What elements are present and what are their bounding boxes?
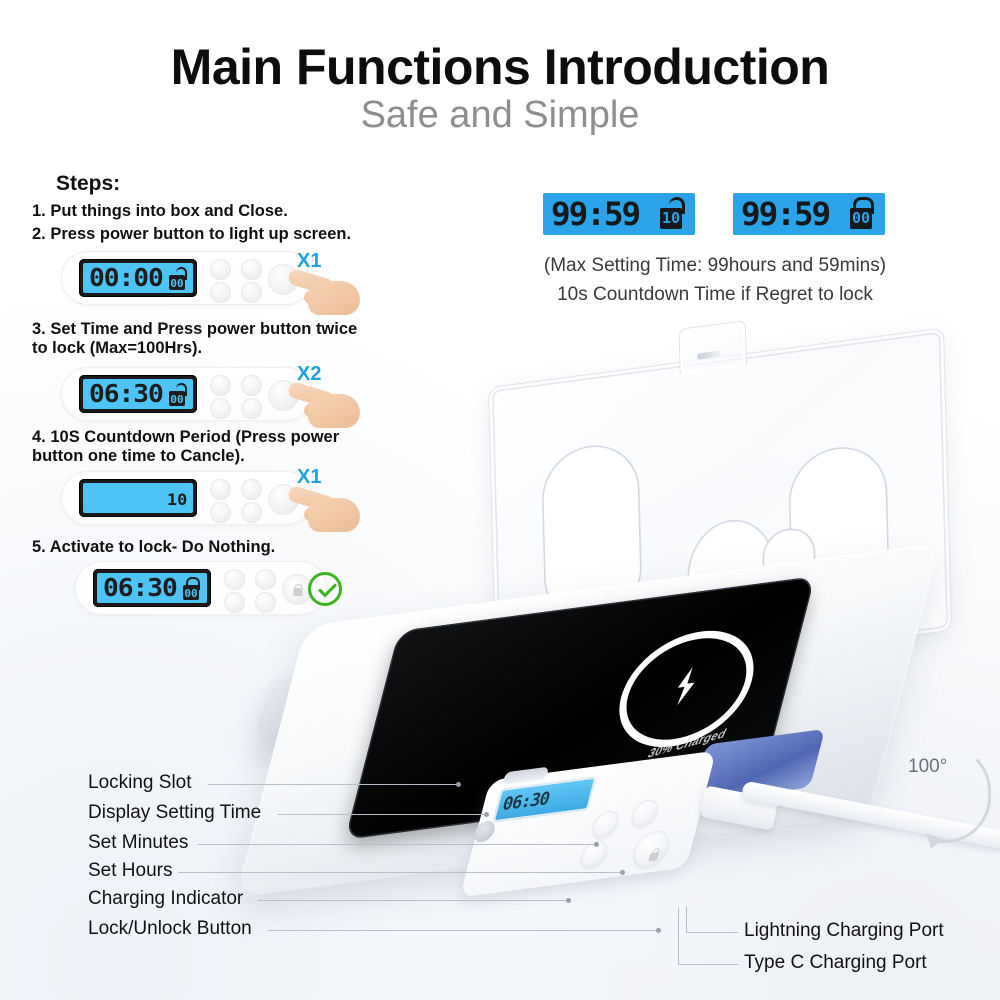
infographic-page: Main Functions Introduction Safe and Sim… [0,0,1000,1000]
lock-indicator-4: 00 [180,576,202,602]
product-lock-unlock-button[interactable] [630,829,673,869]
lcd-countdown-3: 10 [167,485,187,513]
lcd-screen-2: 06:30 00 [83,379,193,409]
lcd-screen-1: 00:00 00 [83,263,193,293]
max-time-lcd-locked: 99:59 00 [733,193,885,235]
leader-dot-1 [456,782,461,787]
step-5-text: Activate to lock- Do Nothing. [50,538,276,556]
leader-line-1 [208,784,458,785]
extra-button-a[interactable] [210,398,231,419]
product-set-minutes-button[interactable] [590,810,622,839]
step-2-num: 2. [32,225,46,243]
step-panel-1: 00:00 00 [62,252,312,304]
max-time-right-digits: 00 [850,210,872,227]
lock-digits-4: 00 [183,587,199,600]
hand-pointer-icon-1 [288,272,360,318]
leader-line-5 [258,900,568,901]
lid-latch-tab [678,320,747,374]
lcd-screen-4: 06:30 00 [97,573,207,603]
max-time-lcd-unlocked: 99:59 10 [543,193,695,235]
step-4-num: 4. [32,428,46,446]
lcd-time-4: 06:30 [103,573,177,603]
callout-charging-indicator: Charging Indicator [88,888,243,910]
extra-button-a[interactable] [210,502,231,523]
max-time-right-value: 99:59 [741,194,829,234]
callout-locking-slot: Locking Slot [88,772,192,794]
lock-indicator-left: 10 [656,197,686,231]
lcd-bezel-2: 06:30 00 [79,375,197,413]
page-subtitle: Safe and Simple [0,94,1000,137]
max-time-left-value: 99:59 [551,194,639,234]
lcd-screen-3: 10 [83,483,193,513]
product-lcd-value: 06:30 [499,785,552,818]
leader-dot-4 [620,870,625,875]
callout-lock-unlock-button: Lock/Unlock Button [88,918,252,940]
step-1: 1. Put things into box and Close. [32,202,288,221]
lcd-bezel-1: 00:00 00 [79,259,197,297]
max-time-note-line2: 10s Countdown Time if Regret to lock [455,281,975,309]
leader-dot-6 [656,928,661,933]
leader-line-4 [178,872,622,873]
lock-indicator-1: 00 [166,266,188,292]
lcd-time-2: 06:30 [89,379,163,409]
leader-line-2 [278,814,486,815]
step-2: 2. Press power button to light up screen… [32,225,351,244]
set-minutes-button[interactable] [241,259,262,280]
step-5-num: 5. [32,538,46,556]
lcd-time-1: 00:00 [89,263,163,293]
lcd-bezel-4: 06:30 00 [93,569,211,607]
set-hours-button[interactable] [210,479,231,500]
callout-typec-port: Type C Charging Port [744,952,927,974]
lock-digits-2: 00 [169,393,185,406]
leader-dot-2 [484,812,489,817]
lock-indicator-2: 00 [166,382,188,408]
step-1-text: Put things into box and Close. [50,202,287,220]
leader-line-7v [686,906,687,933]
leader-line-8v [678,908,679,965]
extra-button-a[interactable] [224,592,245,613]
step-1-num: 1. [32,202,46,220]
callout-set-minutes: Set Minutes [88,832,188,854]
leader-dot-3 [594,842,599,847]
page-title: Main Functions Introduction [0,38,1000,96]
callout-display-setting-time: Display Setting Time [88,802,261,824]
leader-line-7 [686,932,738,933]
hinge-angle-label: 100° [908,756,947,778]
lcd-bezel-3: 10 [79,479,197,517]
step-2-text: Press power button to light up screen. [50,225,351,243]
lock-indicator-right: 00 [846,197,876,231]
extra-button-b[interactable] [241,282,262,303]
leader-line-8 [678,964,738,965]
step-3-num: 3. [32,320,46,338]
callout-lightning-port: Lightning Charging Port [744,920,944,942]
leader-line-6 [268,930,658,931]
steps-heading: Steps: [56,172,120,196]
set-hours-button[interactable] [210,259,231,280]
set-hours-button[interactable] [224,569,245,590]
set-hours-button[interactable] [210,375,231,396]
max-time-note-line1: (Max Setting Time: 99hours and 59mins) [455,252,975,280]
callout-set-hours: Set Hours [88,860,172,882]
step-5: 5. Activate to lock- Do Nothing. [32,538,275,557]
leader-dot-5 [566,898,571,903]
leader-line-3 [198,844,596,845]
product-set-hours-button[interactable] [629,798,661,827]
lock-digits-1: 00 [169,277,185,290]
extra-button-a[interactable] [210,282,231,303]
product-photo: 30% Charged 06:30 [250,340,1000,980]
max-time-left-digits: 10 [660,210,682,227]
